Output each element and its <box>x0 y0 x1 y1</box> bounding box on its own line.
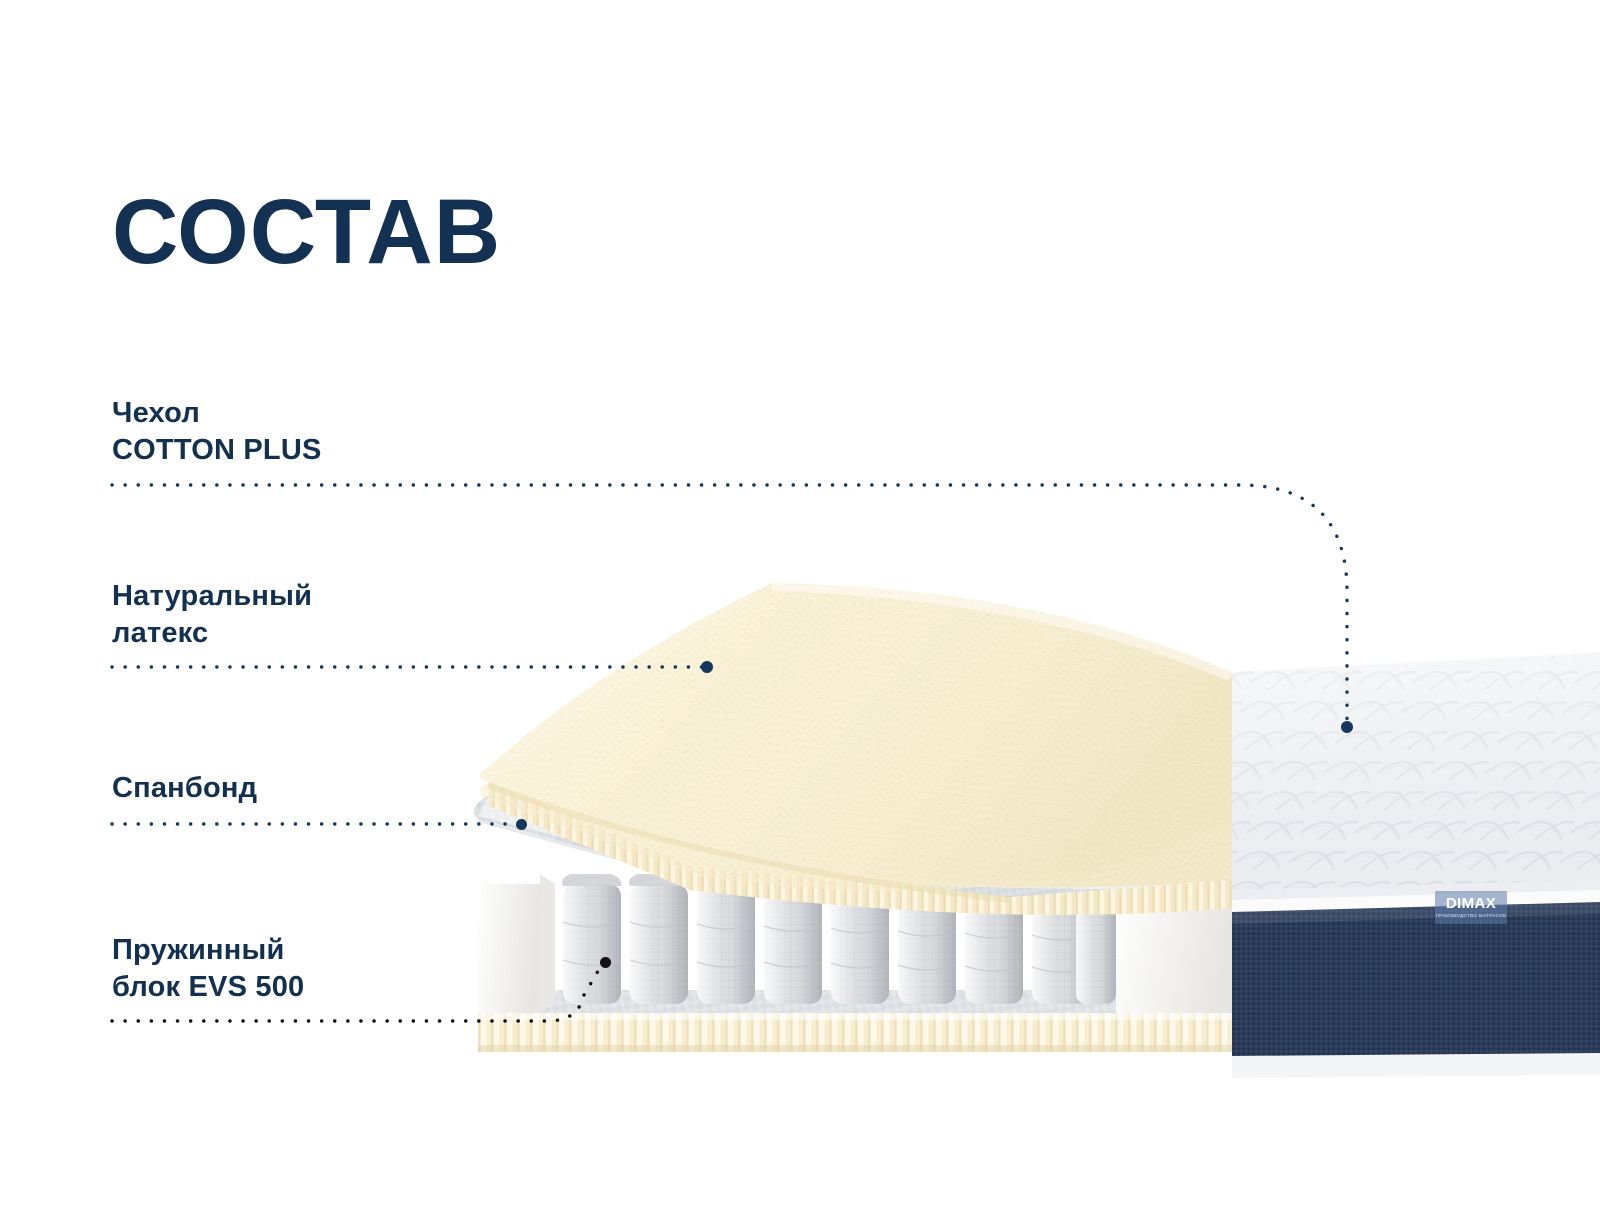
leader-dot-springs <box>600 957 611 968</box>
brand-name: DIMAX <box>1446 896 1496 911</box>
leader-dot-cover <box>1341 721 1353 733</box>
mattress-base-layer <box>478 1013 1232 1052</box>
spunbond-label-line-1: Спанбонд <box>112 770 257 807</box>
springs-label-line-1: Пружинный <box>112 932 304 969</box>
cover-label-line-1: Чехол <box>112 395 322 432</box>
cover-label-line-2: COTTON PLUS <box>112 432 322 469</box>
latex-label-line-1: Натуральный <box>112 578 312 615</box>
sidebar-item-spunbond: Спанбонд <box>112 770 257 807</box>
brand-tag: DIMAX ПРОИЗВОДСТВО МАТРАСОВ <box>1435 891 1507 924</box>
latex-label-line-2: латекс <box>112 615 312 652</box>
sidebar-item-cover: Чехол COTTON PLUS <box>112 395 322 469</box>
springs-label-line-2: блок EVS 500 <box>112 969 304 1006</box>
sidebar-item-springs: Пружинный блок EVS 500 <box>112 932 304 1006</box>
composition-infographic: СОСТАВ <box>0 0 1600 1201</box>
cover-layer <box>1180 630 1600 1078</box>
leader-dot-spunbond <box>516 819 527 830</box>
leader-dot-latex <box>701 661 713 673</box>
brand-tagline: ПРОИЗВОДСТВО МАТРАСОВ <box>1436 914 1507 918</box>
sidebar-item-latex: Натуральный латекс <box>112 578 312 652</box>
